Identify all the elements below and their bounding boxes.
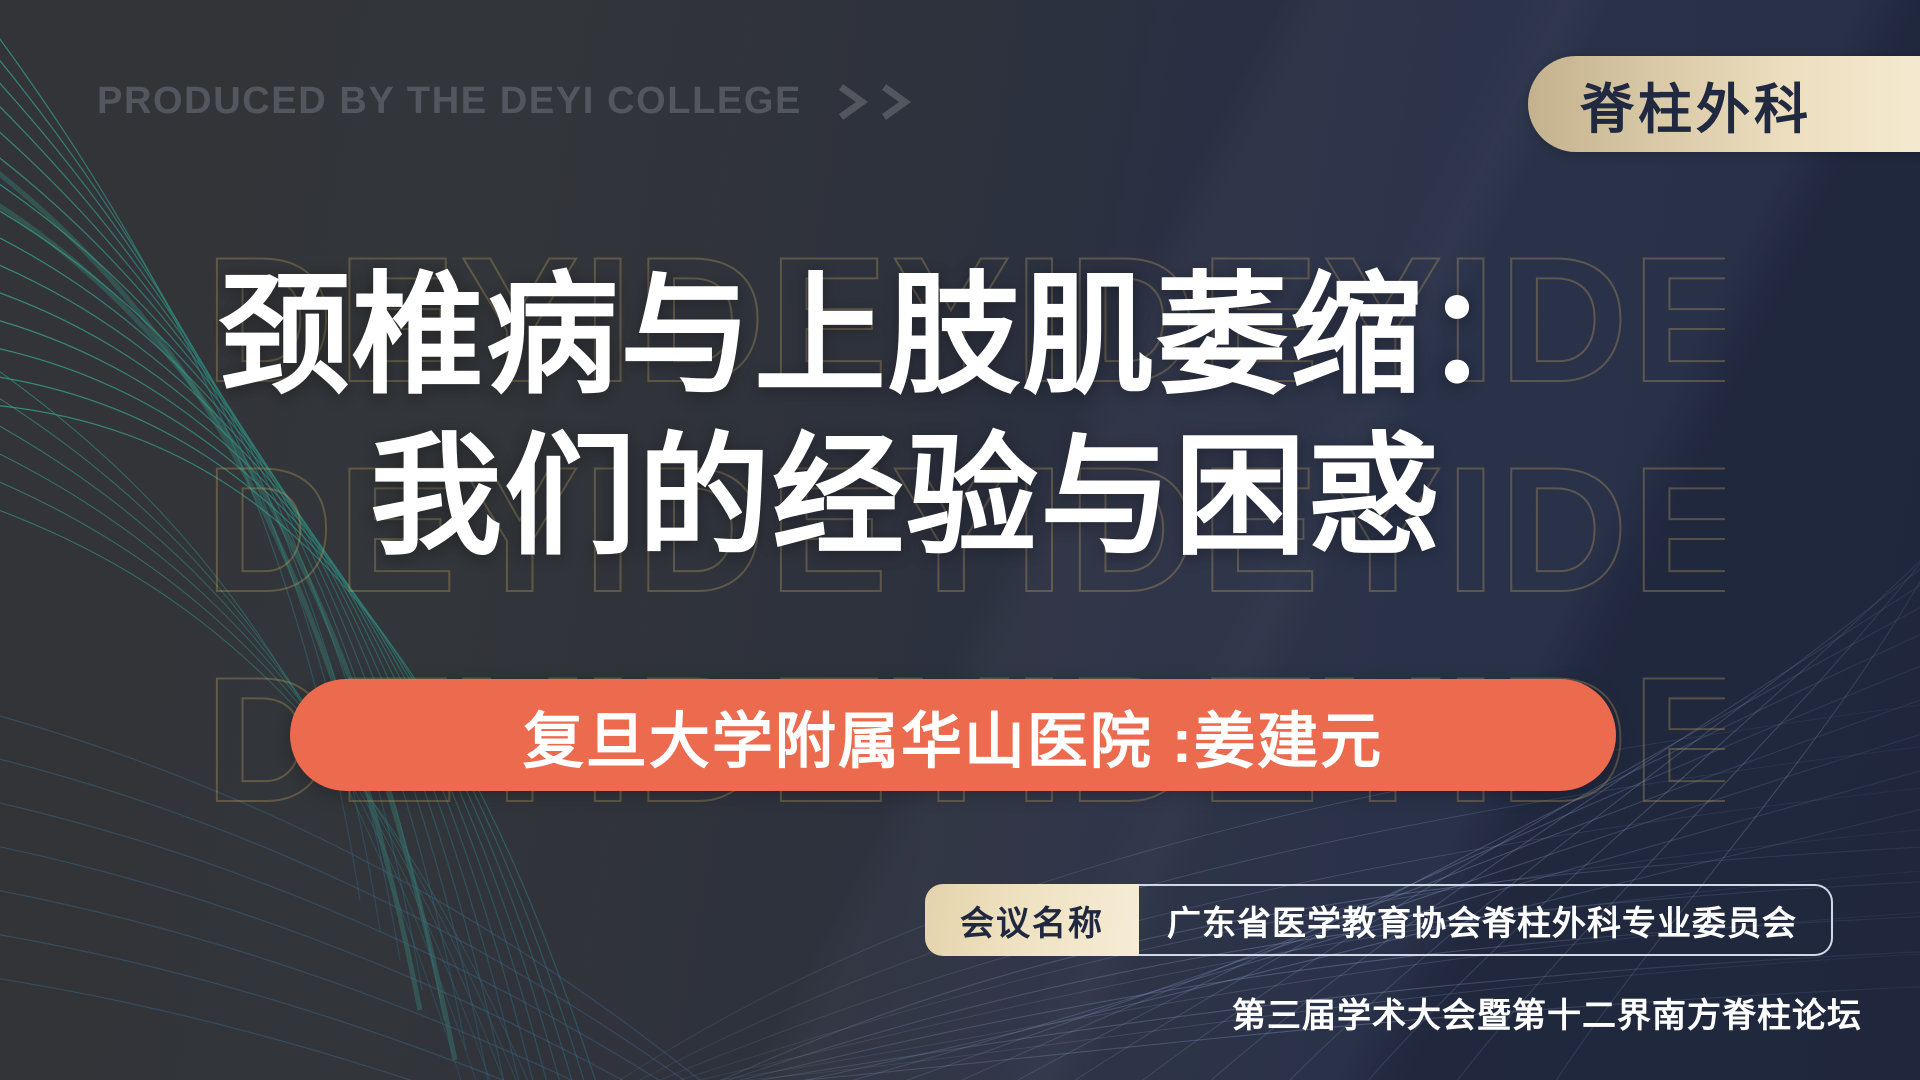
kicker-label: PRODUCED BY THE DEYI COLLEGE [97,80,802,123]
conference-name-box: 广东省医学教育协会脊柱外科专业委员会 [1123,884,1833,956]
double-chevron-right-icon [836,82,913,122]
speaker-pill: 复旦大学附属华山医院 :姜建元 [290,679,1616,791]
title-line-2: 我们的经验与困惑 [370,416,1678,577]
speaker-label: 复旦大学附属华山医院 :姜建元 [523,691,1383,780]
produced-by-kicker: PRODUCED BY THE DEYI COLLEGE [97,80,913,123]
page-title: 颈椎病与上肢肌萎缩： 我们的经验与困惑 [218,255,1678,577]
department-badge-label: 脊柱外科 [1528,65,1812,144]
title-line-1: 颈椎病与上肢肌萎缩： [218,255,1678,416]
conference-name-tag: 会议名称 [925,884,1139,956]
conference-name-value: 广东省医学教育协会脊柱外科专业委员会 [1167,896,1797,945]
conference-name-tag-label: 会议名称 [960,896,1104,945]
department-badge: 脊柱外科 [1528,56,1920,152]
conference-subtitle: 第三届学术大会暨第十二界南方脊柱论坛 [1232,988,1862,1037]
conference-name-row: 会议名称 广东省医学教育协会脊柱外科专业委员会 [925,884,1833,956]
presentation-title-slide: DEYIDEYIDEYIDEYI DEYIDEYIDEYIDEYI DEYIDE… [0,0,1920,1080]
